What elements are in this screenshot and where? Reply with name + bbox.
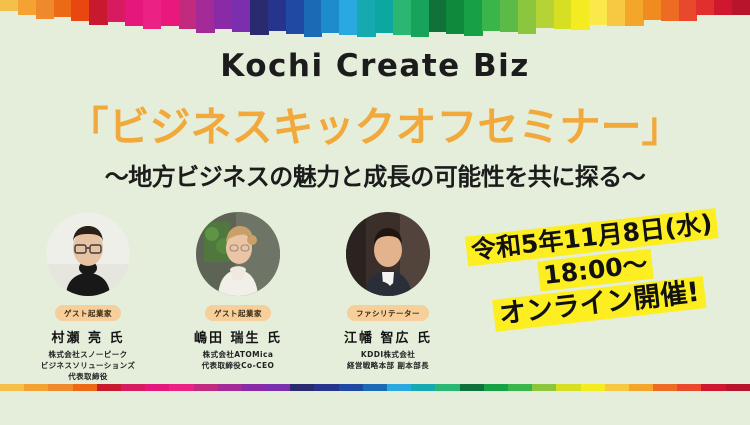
rainbow-bar xyxy=(286,0,305,34)
rainbow-bar xyxy=(411,0,430,37)
rainbow-bar xyxy=(18,0,37,15)
rainbow-rule-segment xyxy=(24,384,48,391)
rainbow-bar xyxy=(357,0,376,37)
rainbow-bar xyxy=(250,0,269,35)
rainbow-rule-segment xyxy=(629,384,653,391)
rainbow-bar xyxy=(161,0,180,26)
speaker-role-badge: ゲスト起業家 xyxy=(205,305,271,321)
rainbow-rule-segment xyxy=(581,384,605,391)
speaker-card: ゲスト起業家 嶋田 瑞生 氏 株式会社ATOMica 代表取締役Co-CEO xyxy=(168,212,308,383)
rainbow-bar xyxy=(54,0,73,17)
rainbow-bar xyxy=(429,0,448,32)
speaker-org-line: 経営戦略本部 副本部長 xyxy=(347,361,429,372)
speaker-name: 村瀬 亮 氏 xyxy=(51,327,124,346)
rainbow-rule-segment xyxy=(460,384,484,391)
rainbow-rule-segment xyxy=(242,384,266,391)
page-title-main: 「ビジネスキックオフセミナー」 xyxy=(0,93,750,153)
rainbow-rule-segment xyxy=(0,384,24,391)
page-title-english: Kochi Create Biz xyxy=(0,48,750,84)
rainbow-rule-segment xyxy=(677,384,701,391)
rainbow-bar xyxy=(589,0,608,25)
rainbow-rule-segment xyxy=(121,384,145,391)
rainbow-rule-segment xyxy=(73,384,97,391)
speaker-org-line: ビジネスソリューションズ xyxy=(41,361,136,372)
rainbow-bar xyxy=(214,0,233,29)
rainbow-bar xyxy=(661,0,680,21)
rainbow-bar xyxy=(393,0,412,35)
speaker-card: ゲスト起業家 村瀬 亮 氏 株式会社スノーピーク ビジネスソリューションズ 代表… xyxy=(18,212,158,383)
event-date-block: 令和5年11月8日(水) 18:00〜 オンライン開催! xyxy=(445,206,750,378)
rainbow-bar xyxy=(679,0,698,21)
avatar xyxy=(46,212,130,296)
speaker-role-badge: ゲスト起業家 xyxy=(55,305,121,321)
rainbow-bar-strip xyxy=(0,0,750,40)
rainbow-rule-segment xyxy=(701,384,725,391)
rainbow-bar xyxy=(196,0,215,33)
rainbow-rule-segment xyxy=(363,384,387,391)
rainbow-rule-segment xyxy=(411,384,435,391)
rainbow-rule-segment xyxy=(97,384,121,391)
speaker-organization: 株式会社ATOMica 代表取締役Co-CEO xyxy=(202,350,275,372)
rainbow-bar xyxy=(107,0,126,22)
speaker-org-line: KDDI株式会社 xyxy=(347,350,429,361)
speaker-organization: KDDI株式会社 経営戦略本部 副本部長 xyxy=(347,350,429,372)
rainbow-rule-segment xyxy=(556,384,580,391)
avatar xyxy=(196,212,280,296)
rainbow-rule-segment xyxy=(339,384,363,391)
rainbow-bar xyxy=(500,0,519,32)
rainbow-bar xyxy=(464,0,483,36)
rainbow-rule-segment xyxy=(484,384,508,391)
rainbow-thin-rule xyxy=(0,384,750,391)
rainbow-rule-segment xyxy=(726,384,750,391)
speaker-org-line: 株式会社ATOMica xyxy=(202,350,275,361)
rainbow-rule-segment xyxy=(266,384,290,391)
rainbow-bar xyxy=(643,0,662,20)
rainbow-rule-segment xyxy=(508,384,532,391)
page-subtitle: 〜地方ビジネスの魅力と成長の可能性を共に探る〜 xyxy=(0,157,750,192)
rainbow-bar xyxy=(36,0,55,19)
rainbow-rule-segment xyxy=(387,384,411,391)
speaker-organization: 株式会社スノーピーク ビジネスソリューションズ 代表取締役 xyxy=(41,350,136,383)
rainbow-rule-segment xyxy=(48,384,72,391)
rainbow-rule-segment xyxy=(169,384,193,391)
rainbow-bar xyxy=(0,0,19,11)
speaker-card: ファシリテーター 江幡 智広 氏 KDDI株式会社 経営戦略本部 副本部長 xyxy=(318,212,458,383)
rainbow-bar xyxy=(536,0,555,28)
rainbow-bar xyxy=(696,0,715,15)
rainbow-bar xyxy=(518,0,537,34)
rainbow-bar xyxy=(446,0,465,34)
speaker-org-line: 代表取締役 xyxy=(41,372,136,383)
speaker-name: 嶋田 瑞生 氏 xyxy=(194,327,282,346)
rainbow-bar xyxy=(714,0,733,15)
rainbow-bar xyxy=(89,0,108,25)
rainbow-rule-segment xyxy=(314,384,338,391)
rainbow-rule-segment xyxy=(605,384,629,391)
rainbow-bar xyxy=(304,0,323,37)
rainbow-rule-segment xyxy=(290,384,314,391)
rainbow-rule-segment xyxy=(218,384,242,391)
rainbow-rule-segment xyxy=(532,384,556,391)
speaker-list: ゲスト起業家 村瀬 亮 氏 株式会社スノーピーク ビジネスソリューションズ 代表… xyxy=(18,212,458,383)
rainbow-bar xyxy=(375,0,394,33)
rainbow-bar xyxy=(571,0,590,30)
rainbow-bar xyxy=(179,0,198,29)
speaker-org-line: 株式会社スノーピーク xyxy=(41,350,136,361)
rainbow-bar xyxy=(232,0,251,32)
rainbow-rule-segment xyxy=(435,384,459,391)
rainbow-bar xyxy=(732,0,750,15)
rainbow-bar xyxy=(143,0,162,29)
rainbow-bar xyxy=(268,0,287,31)
rainbow-rule-segment xyxy=(145,384,169,391)
rainbow-bar xyxy=(482,0,501,31)
rainbow-rule-segment xyxy=(653,384,677,391)
rainbow-bar xyxy=(321,0,340,33)
rainbow-bar xyxy=(339,0,358,35)
speaker-role-badge: ファシリテーター xyxy=(347,305,429,321)
rainbow-rule-segment xyxy=(194,384,218,391)
speaker-org-line: 代表取締役Co-CEO xyxy=(202,361,275,372)
rainbow-bar xyxy=(607,0,626,26)
rainbow-bar xyxy=(554,0,573,29)
avatar xyxy=(346,212,430,296)
speaker-name: 江幡 智広 氏 xyxy=(344,327,432,346)
rainbow-bar xyxy=(625,0,644,26)
seminar-poster: Kochi Create Biz 「ビジネスキックオフセミナー」 〜地方ビジネス… xyxy=(0,0,750,425)
rainbow-bar xyxy=(71,0,90,21)
rainbow-bar xyxy=(125,0,144,26)
